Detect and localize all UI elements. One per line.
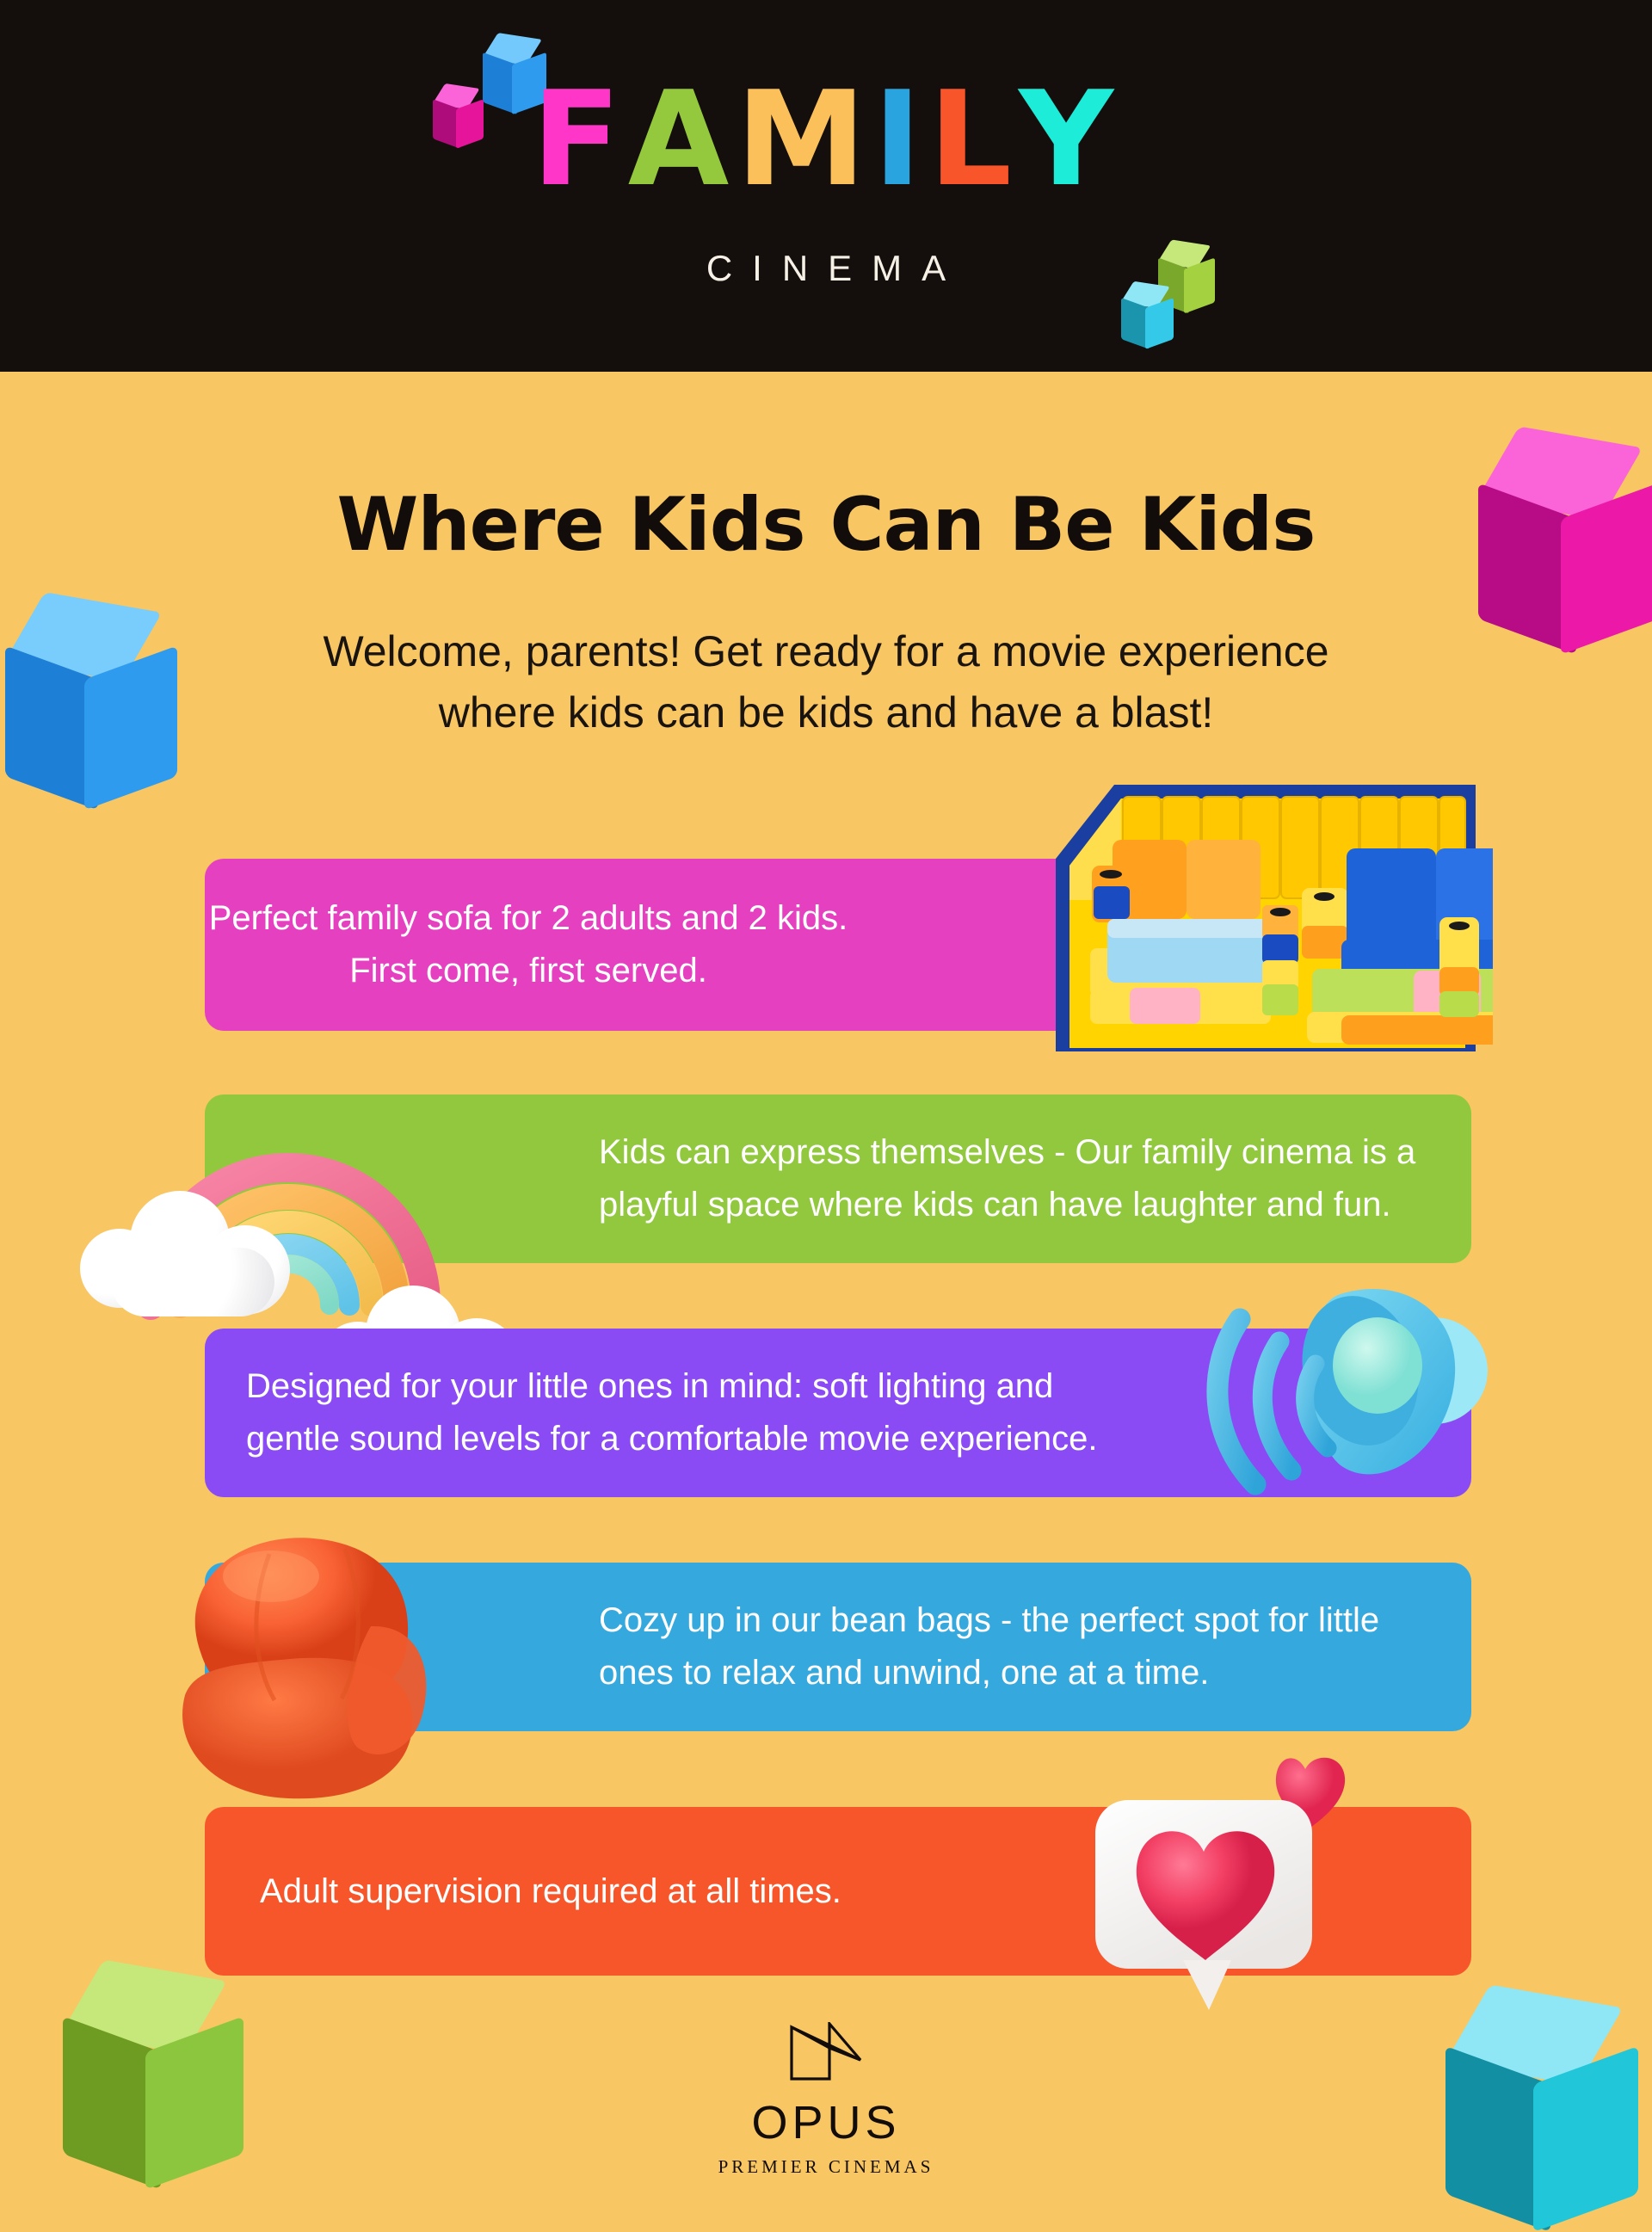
logo-subtitle: CINEMA [687,248,965,289]
logo-letter-l: L [928,74,1019,205]
feature-banner-design-line2: gentle sound levels for a comfortable mo… [246,1413,1110,1465]
logo-letter-f: F [532,74,628,205]
opus-angular-logo-icon [786,2022,866,2084]
feature-banner-design-line1: Designed for your little ones in mind: s… [246,1360,1110,1413]
feature-banner-sofa-line1: Perfect family sofa for 2 adults and 2 k… [205,892,852,945]
family-cinema-logo: FAMILY CINEMA [0,0,1652,372]
family-sofa-image [959,757,1493,1060]
footer-brand-name: OPUS [0,2096,1652,2149]
logo-letter-a: A [628,74,737,205]
footer-logo: OPUS PREMIER CINEMAS [0,2022,1652,2178]
feature-banner-bean-line2: ones to relax and unwind, one at a time. [599,1647,1437,1699]
family-sofa-graphic [959,757,1493,1060]
bean-bag-graphic [159,1523,521,1807]
heart-chat-bubble-icon [1080,1747,1364,2022]
page-subtitle-line1: Welcome, parents! Get ready for a movie … [0,621,1652,682]
logo-letter-m: M [736,74,872,205]
logo-wordmark: FAMILY [532,74,1120,205]
footer-tagline: PREMIER CINEMAS [0,2156,1652,2178]
logo-letter-i: I [873,74,929,205]
feature-banner-express-line1: Kids can express themselves - Our family… [599,1126,1437,1179]
heart-chat-graphic [1080,1747,1364,2022]
speaker-graphic [1200,1269,1493,1501]
cloud-left-icon [80,1187,312,1316]
feature-banner-bean-line1: Cozy up in our bean bags - the perfect s… [599,1594,1437,1647]
feature-banner-adult-line1: Adult supervision required at all times. [260,1865,1110,1918]
speaker-sound-icon [1200,1269,1493,1501]
bean-bag-image [159,1523,521,1807]
page-subtitle: Welcome, parents! Get ready for a movie … [0,621,1652,743]
logo-letter-y: Y [1019,74,1120,205]
page-subtitle-line2: where kids can be kids and have a blast! [0,682,1652,743]
page-title: Where Kids Can Be Kids [0,482,1652,568]
feature-banner-express-line2: playful space where kids can have laught… [599,1179,1437,1231]
feature-banner-sofa-line2: First come, first served. [205,945,852,997]
header-banner: FAMILY CINEMA [0,0,1652,372]
